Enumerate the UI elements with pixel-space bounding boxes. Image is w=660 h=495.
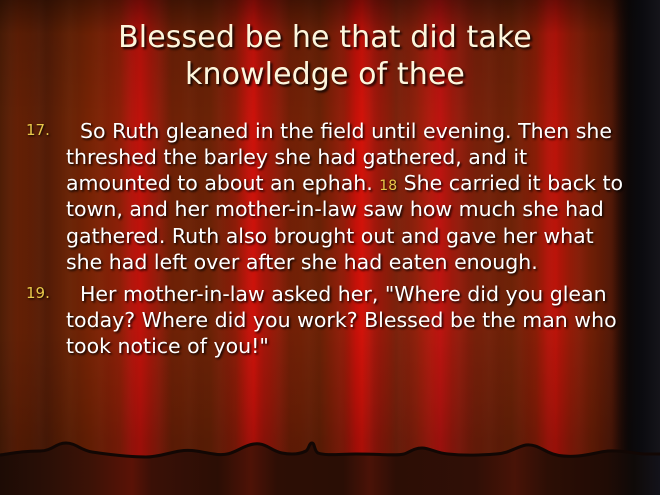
verse-19-body: Her mother-in-law asked her, "Where did … (66, 282, 617, 358)
slide-body: 17. So Ruth gleaned in the field until e… (26, 118, 634, 365)
list-item: 19. Her mother-in-law asked her, "Where … (26, 281, 634, 359)
verse-text-17: So Ruth gleaned in the field until eveni… (66, 118, 634, 275)
verse-number-19: 19. (26, 281, 66, 301)
slide-title-line-1: Blessed be he that did take (40, 20, 610, 57)
presentation-slide: Blessed be he that did take knowledge of… (0, 0, 660, 495)
slide-title-line-2: knowledge of thee (40, 57, 610, 94)
curtain-hem (0, 423, 660, 495)
verse-number-17: 17. (26, 118, 66, 138)
verse-number-18: 18 (379, 178, 397, 194)
verse-text-19: Her mother-in-law asked her, "Where did … (66, 281, 634, 359)
slide-title: Blessed be he that did take knowledge of… (40, 20, 610, 93)
list-item: 17. So Ruth gleaned in the field until e… (26, 118, 634, 275)
